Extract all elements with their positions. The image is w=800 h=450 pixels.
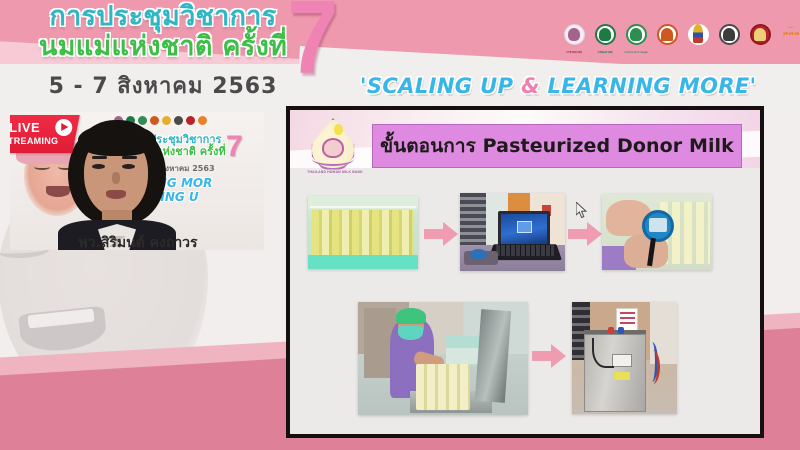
speaker-eye-right [122,164,135,169]
logo-mark [723,28,735,41]
arrow-right-icon-1 [424,222,458,246]
tagline-prefix: 'SCALING UP [360,74,521,98]
logo-ministry-public-health: กรมอนามัย [593,24,617,54]
tile1-shelf [310,206,416,258]
logo-royal-crown [686,24,710,54]
speaker-mouth [106,190,126,199]
thermometer-timer-photo [602,194,712,270]
logo-mark [599,28,611,41]
tile4-pasteurizer-lid [475,309,511,403]
live-video-player[interactable]: การประชุมวิชาการ นมแม่แห่งชาติ ครั้งที่ … [10,112,264,250]
poster-edition-number: 7 [226,130,243,164]
logo-mark-dots: ●▲● [779,26,800,29]
speaker-eye-left [92,164,105,169]
logo-thai-royal-emblem: ราชวิทยาลัย [562,24,586,54]
logo-mark [693,24,703,43]
speaker-name-caption: พว.สิริมนต์ คงถาวร [18,232,258,254]
tile2-screen-window [517,221,532,233]
edition-number: 7 [287,0,338,90]
tile4-nurse-cap [396,308,426,324]
nurse-loading-pasteurizer-photo [358,302,528,415]
live-streaming-badge: LIVE STREAMING [10,115,80,153]
tile5-label-sticker [614,372,630,380]
speaker-video-figure [58,120,176,250]
logo-mark [630,28,642,41]
laptop-data-recording-photo [460,193,565,271]
speaker-brow-left [92,156,107,159]
poster-baby-eye-left [34,164,50,170]
tile3-thermometer-display [649,218,667,232]
speaker-fringe [78,124,156,156]
arrow-right-icon-3 [532,344,566,368]
live-badge-label: LIVE [10,120,40,135]
conference-date: 5 - 7 สิงหาคม 2563 [28,68,298,103]
tile4-shelf-box [446,348,480,364]
arrow-right-icon-2 [568,222,602,246]
tile1-floor [308,255,418,269]
logo-mark [661,28,673,41]
speaker-nose [112,172,120,184]
tile2-mouse [470,249,487,260]
logo-mark [754,28,766,41]
tile5-knob-red [608,327,614,334]
conference-thai-title-line1: การประชุมวิชาการ [28,2,298,32]
tile2-keyboard [496,245,554,256]
tile5-control-panel [612,354,632,367]
streaming-badge-label: STREAMING [10,136,58,146]
tile2-wall-left [460,193,486,249]
logo-caption: สสส [779,32,800,35]
logo-grey-seal [717,24,741,54]
conference-thai-title-line2: นมแม่แห่งชาติ ครั้งที่ [28,32,298,62]
freezer-storage-unit-photo [572,302,677,414]
slide-title: ขั้นตอนการ Pasteurized Donor Milk [372,124,742,168]
logo-caption: กระทรวงสาธารณสุข [624,51,648,54]
speaker-brow-right [122,156,137,159]
conference-tagline: 'SCALING UP & LEARNING MORE' [360,74,756,98]
mouse-pointer-icon [576,202,588,220]
human-milk-bank-drop-logo: THAILAND HUMAN MILK BANK [302,116,368,182]
milk-bank-logo-caption: THAILAND HUMAN MILK BANK [302,170,368,174]
tile5-hose-red [646,350,660,384]
milk-droplet-icon [334,124,343,135]
logo-thaihealth-sss: ●▲● สสส [779,24,800,54]
sponsor-logo-row: ราชวิทยาลัย กรมอนามัย กระทรวงสาธารณสุข [562,24,800,54]
tile4-milk-bottles [416,364,470,410]
logo-red-seal [748,24,772,54]
cradle-arm-shape [312,152,354,166]
conference-thai-title: การประชุมวิชาการ นมแม่แห่งชาติ ครั้งที่ [28,2,298,62]
play-triangle-icon [55,119,72,136]
tagline-ampersand: & [521,74,540,98]
tile5-knob-blue [618,327,624,334]
logo-royal-crest-orange [655,24,679,54]
logo-mark [568,28,580,41]
logo-caption: ราชวิทยาลัย [562,51,586,54]
conference-banner: การประชุมวิชาการ นมแม่แห่งชาติ ครั้งที่ … [0,0,800,108]
milk-bottle-rack-photo [308,196,418,269]
logo-caption: กรมอนามัย [593,51,617,54]
screen: การประชุมวิชาการ นมแม่แห่งชาติ ครั้งที่ … [0,0,800,450]
tile4-nurse-mask [398,326,423,340]
logo-department-health: กระทรวงสาธารณสุข [624,24,648,54]
tagline-suffix: LEARNING MORE' [540,74,757,98]
